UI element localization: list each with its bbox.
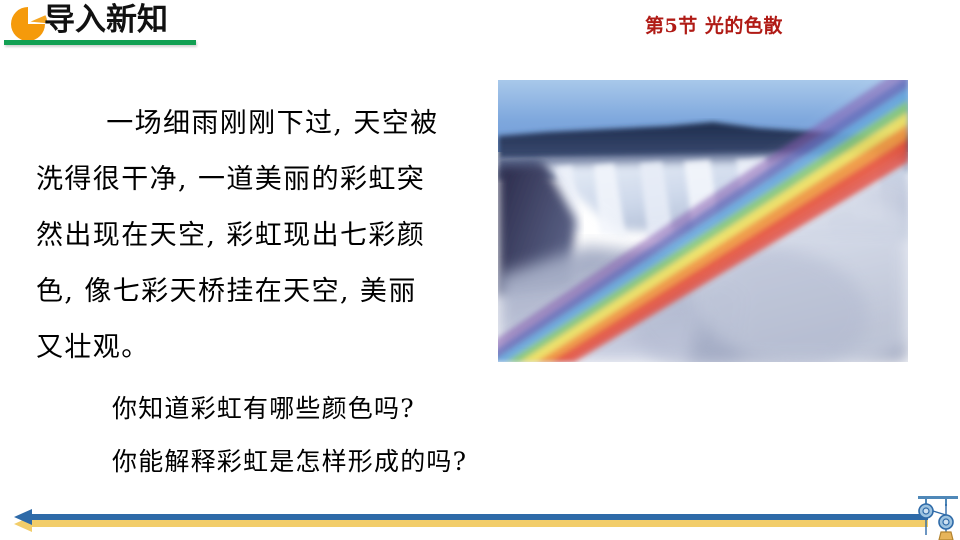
intro-paragraph: 一场细雨刚刚下过, 天空被 洗得很干净, 一道美丽的彩虹突 然出现在天空, 彩虹… [36,96,496,376]
paragraph-line: 色, 像七彩天桥挂在天空, 美丽 [36,276,417,307]
slide-canvas: 导入新知 第5节 光的色散 一场细雨刚刚下过, 天空被 洗得很干净, 一道美丽的… [0,0,960,540]
lesson-title: 第5节 光的色散 [645,14,783,38]
page-title: 导入新知 [44,1,168,39]
photo-soft-edge-mask [498,80,908,362]
footer-arrow-bar [0,492,960,540]
rainbow-waterfall-photo [498,80,908,362]
paragraph-line: 一场细雨刚刚下过, 天空被 [106,108,438,139]
paragraph-line: 洗得很干净, 一道美丽的彩虹突 [36,164,425,195]
question-item: 你能解释彩虹是怎样形成的吗? [112,435,467,488]
paragraph-line: 然出现在天空, 彩虹现出七彩颜 [36,220,425,251]
pulley-icon [912,494,960,540]
title-underline-rule [4,40,196,45]
question-list: 你知道彩虹有哪些颜色吗? 你能解释彩虹是怎样形成的吗? [112,382,467,488]
question-item: 你知道彩虹有哪些颜色吗? [112,382,467,435]
paragraph-line: 又壮观。 [36,332,150,363]
pie-chart-icon [8,4,48,44]
